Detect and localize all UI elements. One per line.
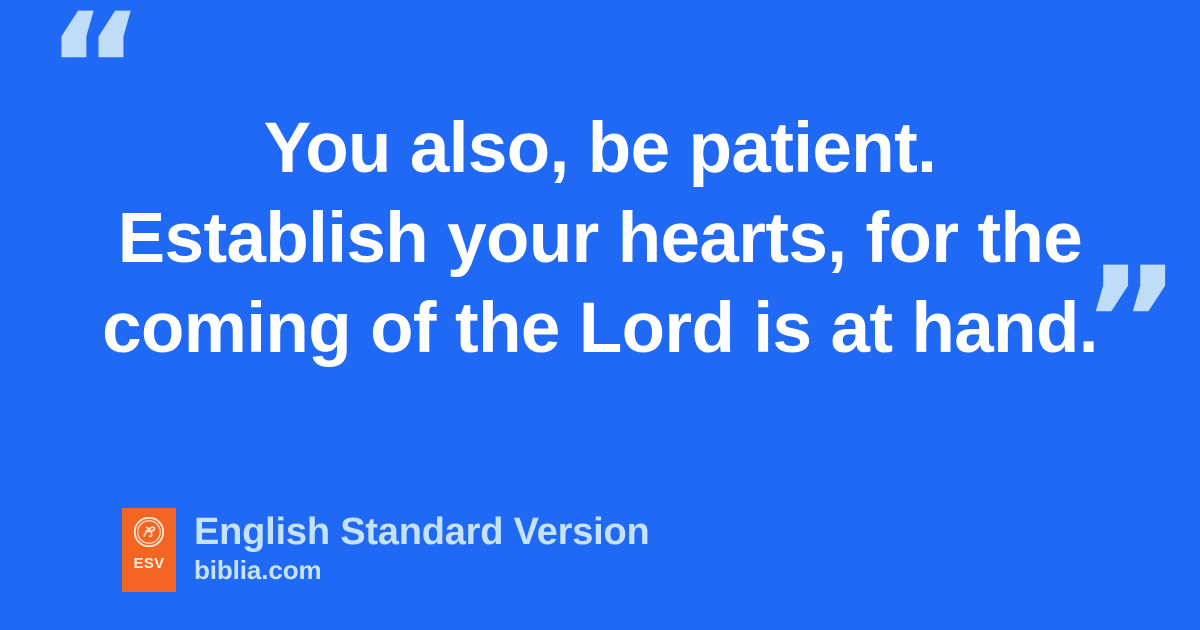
esv-logo-badge: ESV xyxy=(122,508,176,592)
closing-quote-icon: ” xyxy=(1082,248,1179,398)
attribution-block: ESV English Standard Version biblia.com xyxy=(122,508,650,592)
bible-version-label: English Standard Version xyxy=(194,510,650,554)
esv-abbreviation-label: ESV xyxy=(134,556,165,571)
bible-verse-card: “ You also, be patient. Establish your h… xyxy=(0,0,1200,630)
verse-line: Establish your hearts, for the xyxy=(46,194,1154,284)
esv-seal-icon xyxy=(134,517,164,547)
verse-line: coming of the Lord is at hand. xyxy=(46,284,1154,374)
source-site-label: biblia.com xyxy=(194,554,650,586)
attribution-text-group: English Standard Version biblia.com xyxy=(194,508,650,586)
verse-line: You also, be patient. xyxy=(46,104,1154,194)
verse-text: You also, be patient. Establish your hea… xyxy=(0,104,1200,374)
